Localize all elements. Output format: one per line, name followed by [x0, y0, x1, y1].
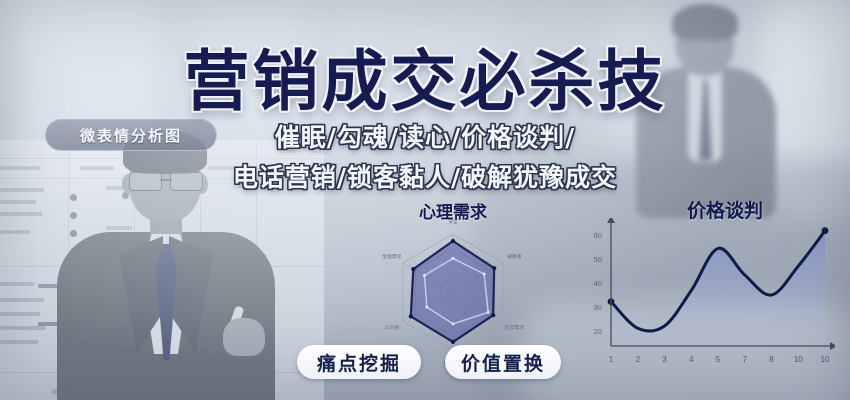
x-axis-arrow [830, 342, 835, 350]
y-axis-tick: 60 [594, 231, 602, 240]
radar-axis-label: 被尊重 [507, 253, 522, 260]
tag-pain-point-label: 痛点挖掘 [317, 349, 401, 376]
x-axis-tick: 4 [689, 355, 694, 364]
radar-axis-label: 生理需求 [382, 253, 401, 260]
line-chart-svg: 12345781010 6050403020 [575, 218, 835, 386]
x-axis-tick: 10 [821, 355, 830, 364]
radar-chart: 心理需求 安全被尊重社交需求自我实现认可感生理需求 [338, 198, 568, 368]
x-axis-tick: 2 [636, 355, 641, 364]
y-axis-arrow [607, 218, 615, 223]
marketing-banner: 微表情分析图 营销成交必杀技 催眠/勾魂/读心/价格谈判/ 电话营销/锁客黏人/… [0, 0, 850, 400]
radar-chart-svg: 安全被尊重社交需求自我实现认可感生理需求 [338, 216, 568, 366]
y-axis-tick: 40 [594, 279, 602, 288]
tag-value-exchange-label: 价值置换 [461, 349, 545, 376]
page-title: 营销成交必杀技 [0, 28, 850, 124]
y-axis-tick-labels: 6050403020 [594, 231, 602, 336]
radar-axis-label: 社交需求 [505, 324, 524, 331]
x-axis-tick: 3 [662, 355, 667, 364]
y-axis-tick: 50 [594, 255, 602, 264]
tag-value-exchange[interactable]: 价值置换 [445, 345, 561, 379]
line-chart: 价格谈判 12345781010 6050403020 [575, 196, 835, 386]
x-axis-tick-labels: 12345781010 [609, 355, 830, 364]
radar-axis-label: 安全 [448, 218, 458, 225]
x-axis-tick: 5 [716, 355, 721, 364]
x-axis-tick: 10 [794, 355, 803, 364]
radar-axis-label: 认可感 [384, 324, 399, 331]
tag-pain-point[interactable]: 痛点挖掘 [297, 345, 421, 379]
y-axis-tick: 30 [594, 303, 602, 312]
radar-series-outer [411, 241, 494, 342]
x-axis-tick: 7 [743, 355, 748, 364]
x-axis-tick: 8 [769, 355, 774, 364]
y-axis-tick: 20 [594, 327, 602, 336]
x-axis-tick: 1 [609, 355, 614, 364]
subtitle-line-2: 电话营销/锁客黏人/破解犹豫成交 [0, 158, 850, 194]
subtitle-line-1: 催眠/勾魂/读心/价格谈判/ [0, 118, 850, 154]
